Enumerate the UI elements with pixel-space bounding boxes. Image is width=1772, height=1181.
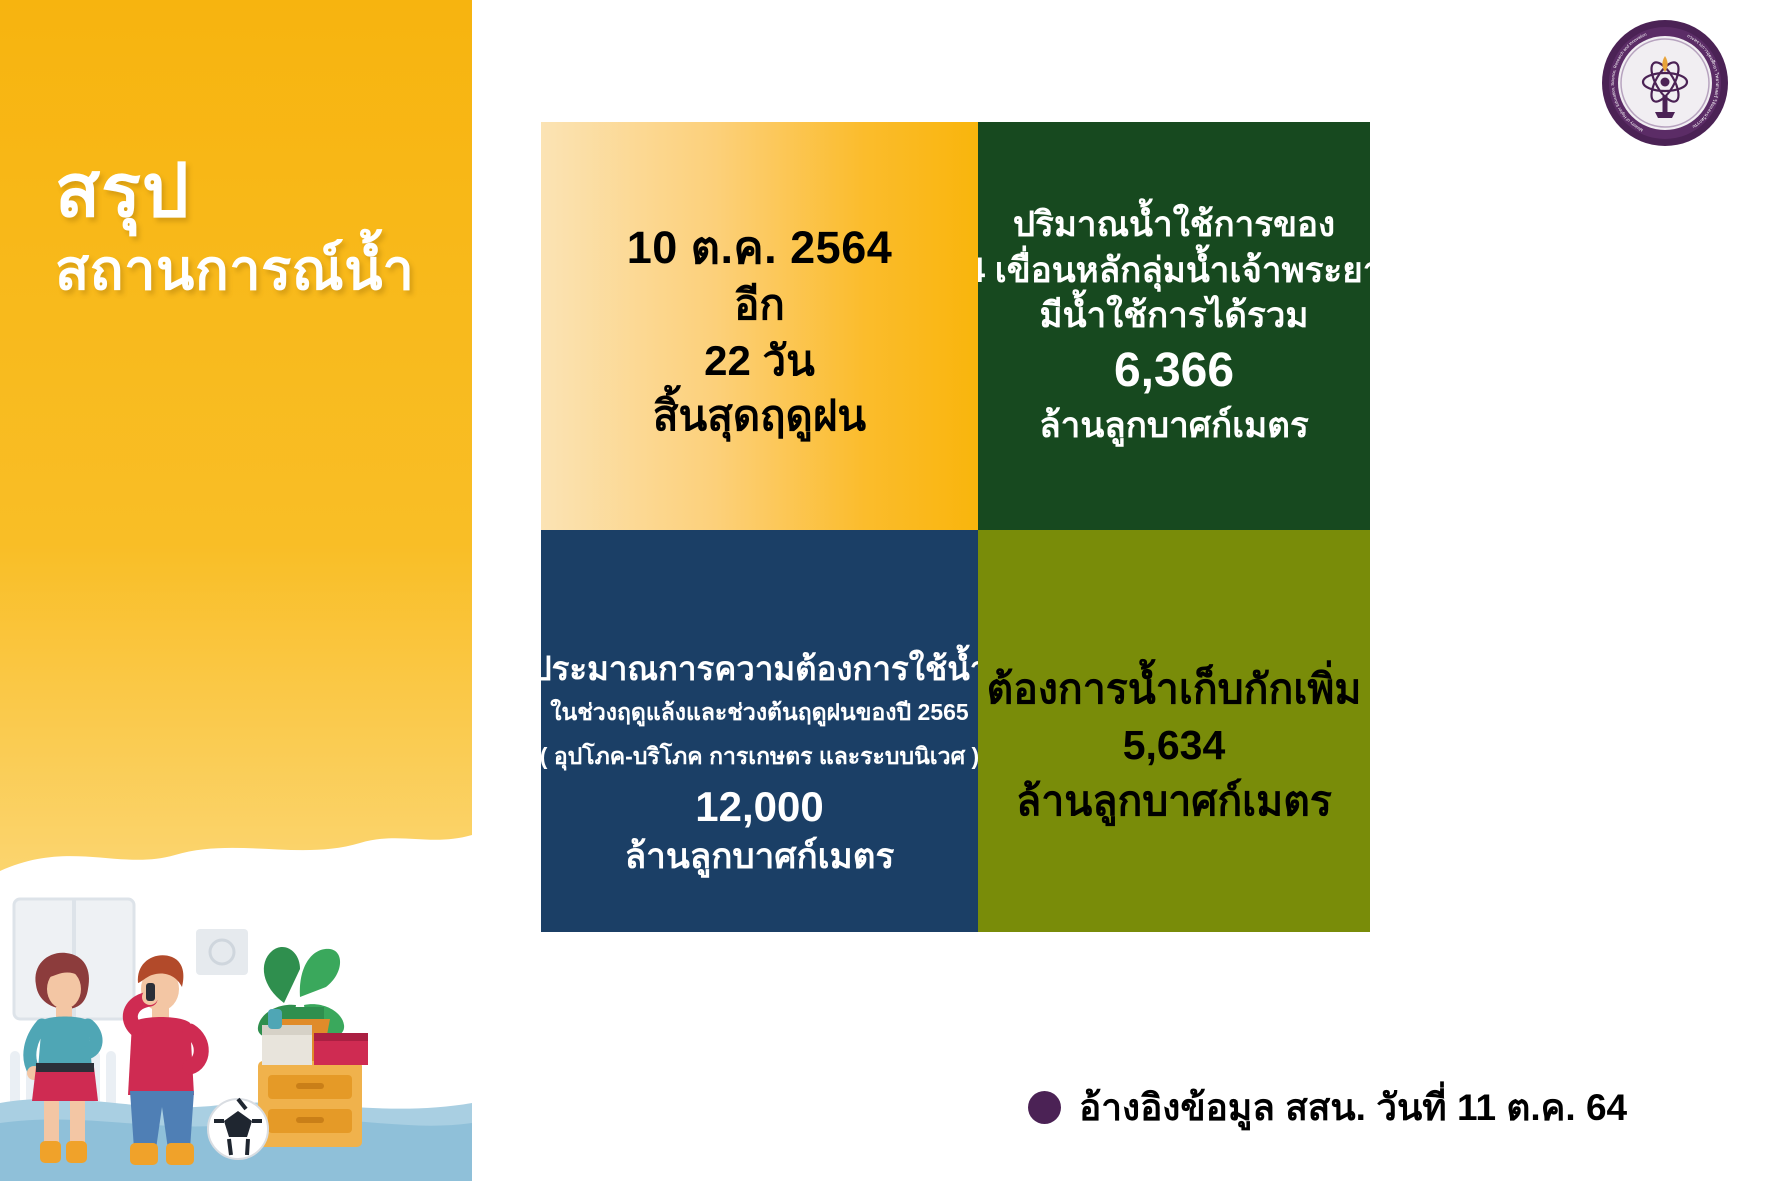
storage-label: ต้องการน้ำเก็บกักเพิ่ม [987,662,1362,718]
countdown-label-end-of-rainy-season: สิ้นสุดฤดูฝน [653,388,866,443]
people-at-home-illustration [0,751,472,1181]
demand-value: 12,000 [695,782,823,832]
ministry-seal-logo: กระทรวงการอุดมศึกษา วิทยาศาสตร์ วิจัยและ… [1600,18,1730,148]
countdown-label-remaining: อีก [734,277,785,332]
source-reference-footer: อ้างอิงข้อมูล สสน. วันที่ 11 ต.ค. 64 [1028,1078,1627,1137]
demand-heading: ประมาณการความต้องการใช้น้ำ [541,648,978,691]
page-title: สรุป สถานการณ์น้ำ [55,150,455,302]
quadrant-rainy-season-countdown: 10 ต.ค. 2564 อีก 22 วัน สิ้นสุดฤดูฝน [541,122,978,530]
countdown-days-value: 22 วัน [704,333,815,388]
supply-label-line-2: 4 เขื่อนหลักลุ่มน้ำเจ้าพระยา [978,248,1370,294]
storage-value: 5,634 [1123,718,1226,774]
demand-subtext-period: ในช่วงฤดูแล้งและช่วงต้นฤดูฝนของปี 2565 [550,691,968,735]
demand-unit: ล้านลูกบาศก์เมตร [625,833,895,880]
supply-unit: ล้านลูกบาศก์เมตร [1039,403,1309,449]
title-line-secondary: สถานการณ์น้ำ [55,239,455,302]
stat-quadrant-grid: 10 ต.ค. 2564 อีก 22 วัน สิ้นสุดฤดูฝน ปริ… [541,122,1370,932]
bullet-icon [1028,1091,1061,1124]
demand-subtext-categories: ( อุปโภค-บริโภค การเกษตร และระบบนิเวศ ) [541,735,978,779]
source-reference-text: อ้างอิงข้อมูล สสน. วันที่ 11 ต.ค. 64 [1079,1078,1627,1137]
quadrant-additional-storage-needed: ต้องการน้ำเก็บกักเพิ่ม 5,634 ล้านลูกบาศก… [978,530,1370,932]
supply-label-line-1: ปริมาณน้ำใช้การของ [1013,202,1335,248]
supply-label-line-3: มีน้ำใช้การได้รวม [1040,293,1309,339]
quadrant-available-water: ปริมาณน้ำใช้การของ 4 เขื่อนหลักลุ่มน้ำเจ… [978,122,1370,530]
left-title-panel: สรุป สถานการณ์น้ำ [0,0,472,1181]
title-line-primary: สรุป [55,150,455,233]
quadrant-estimated-demand: ประมาณการความต้องการใช้น้ำ ในช่วงฤดูแล้ง… [541,530,978,932]
storage-unit: ล้านลูกบาศก์เมตร [1016,774,1332,830]
countdown-date-value: 10 ต.ค. 2564 [627,218,893,277]
supply-value: 6,366 [1114,339,1234,404]
